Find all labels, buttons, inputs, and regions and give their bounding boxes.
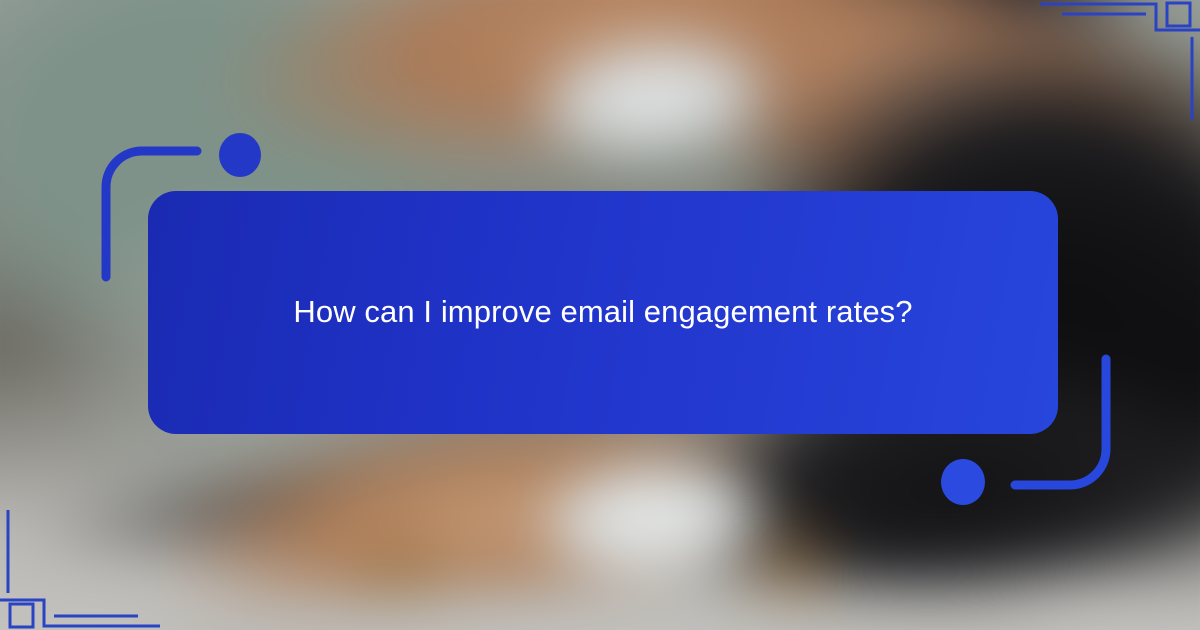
promo-card-stage: How can I improve email engagement rates… — [0, 0, 1200, 630]
accent-dot-top — [219, 133, 261, 177]
accent-dot-bottom — [941, 459, 985, 505]
question-text: How can I improve email engagement rates… — [293, 292, 912, 332]
question-card: How can I improve email engagement rates… — [148, 191, 1058, 434]
